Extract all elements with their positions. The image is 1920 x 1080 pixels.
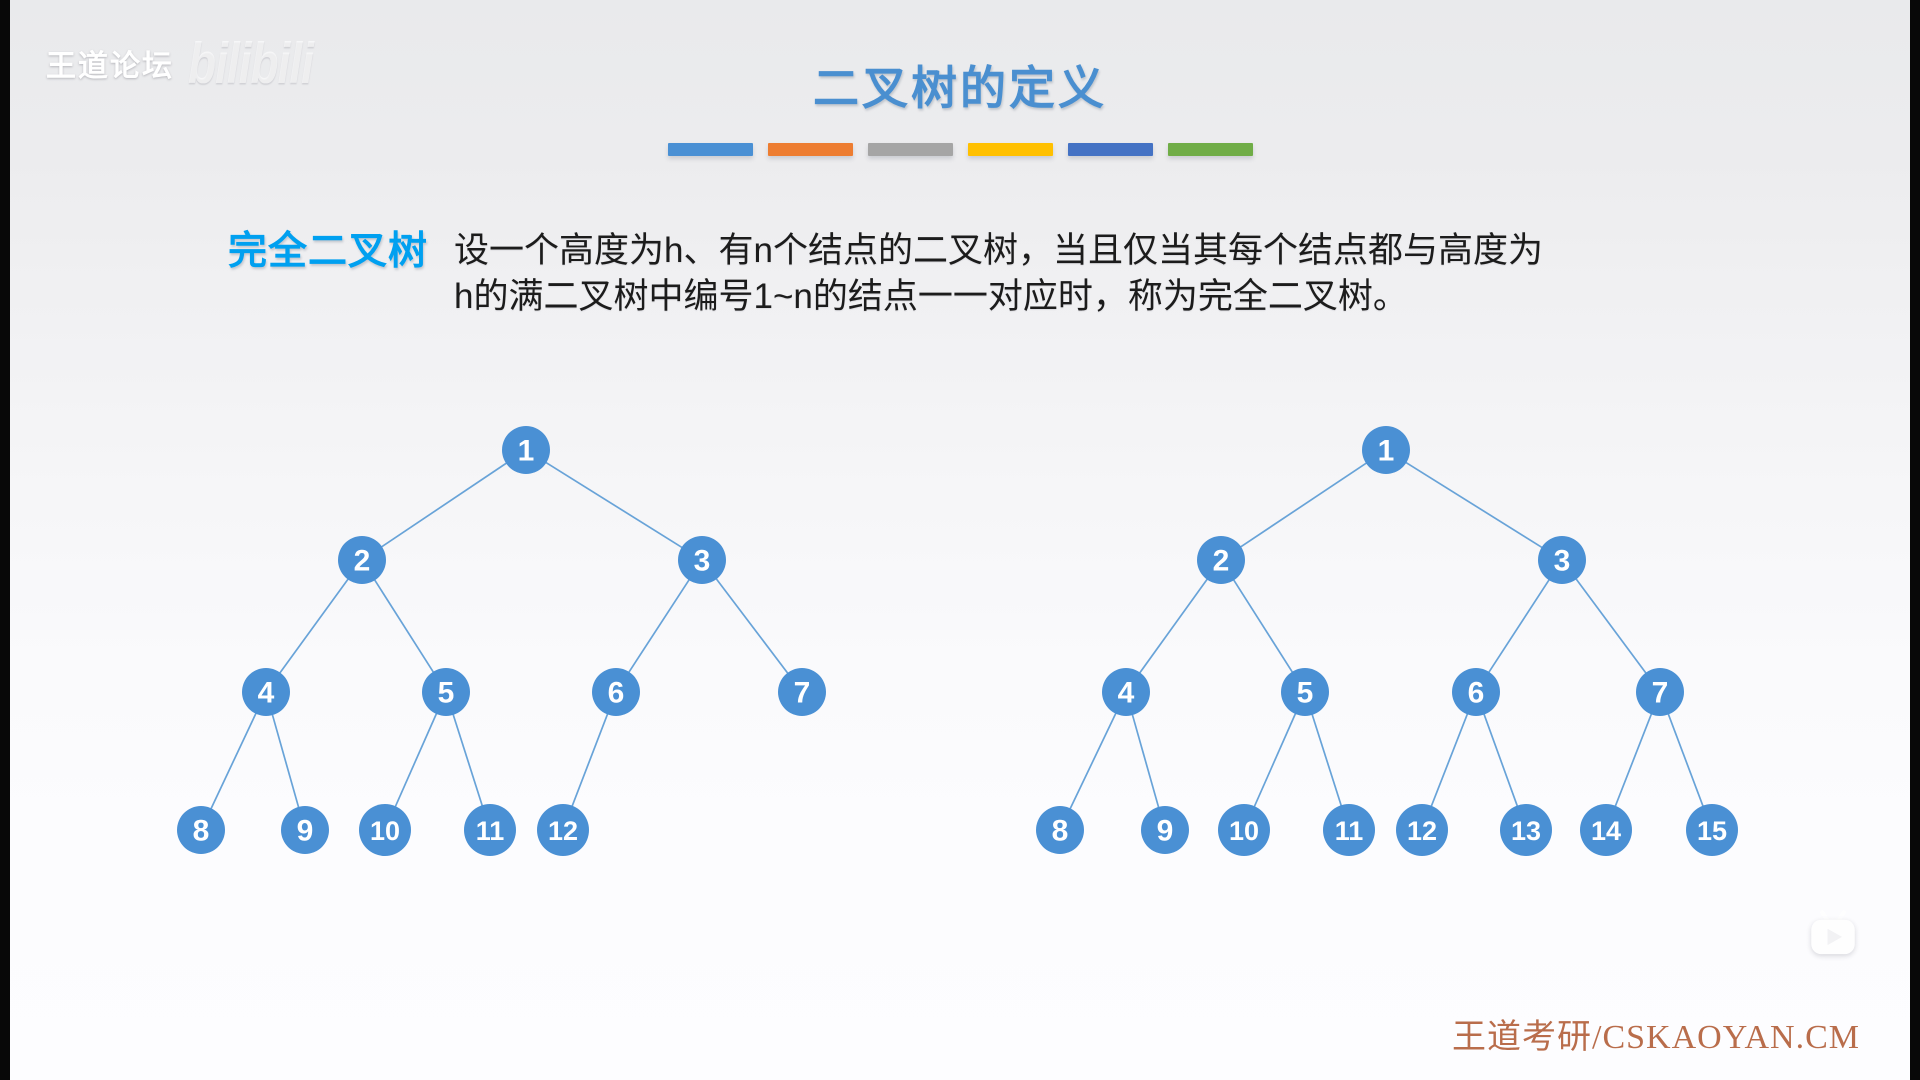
tree-edge [1132, 713, 1159, 809]
tree-node-label: 7 [794, 677, 811, 710]
title-underline-color-bars [10, 143, 1910, 156]
tree-node-label: 1 [518, 435, 535, 468]
tree-node: 7 [778, 668, 826, 716]
bar-gray [868, 143, 953, 156]
tree-node-label: 6 [1468, 677, 1485, 710]
bar-orange [768, 143, 853, 156]
tree-edge [1233, 579, 1293, 674]
full-binary-tree-diagram: 123456789101112131415 [1000, 410, 1780, 880]
tree-edge [1483, 713, 1517, 808]
tree-node-label: 2 [1213, 545, 1230, 578]
tree-edge [1488, 578, 1550, 673]
tree-node-label: 5 [438, 677, 455, 710]
tree-node-label: 7 [1652, 677, 1669, 710]
tree-node-label: 9 [297, 815, 314, 848]
tree-node-label: 8 [1052, 815, 1069, 848]
tree-edge [380, 462, 507, 547]
tree-edge [1312, 713, 1342, 807]
tree-edge [1405, 462, 1544, 549]
tree-edge [279, 578, 349, 674]
tree-node: 10 [359, 804, 411, 856]
tree-edge [1575, 578, 1647, 675]
tree-node-label: 3 [694, 545, 711, 578]
tree-node: 9 [281, 806, 329, 854]
bilibili-tv-icon [1804, 907, 1862, 965]
letterbox-left [0, 0, 10, 1080]
tree-node: 1 [1362, 426, 1410, 474]
tree-node: 13 [1500, 804, 1552, 856]
slide-root: 王道论坛 bilibili 二叉树的定义 完全二叉树 设一个高度为h、有n个结点… [0, 0, 1920, 1080]
definition-line-1: 设一个高度为h、有n个结点的二叉树，当且仅当其每个结点都与高度为 [454, 228, 1648, 274]
tree-edge [572, 713, 609, 808]
tree-node: 15 [1686, 804, 1738, 856]
tree-node-label: 8 [193, 815, 210, 848]
definition-block: 完全二叉树 设一个高度为h、有n个结点的二叉树，当且仅当其每个结点都与高度为 h… [228, 228, 1648, 320]
footer-brand: 王道考研/CSKAOYAN.CM [1452, 1009, 1860, 1058]
presentation-slide: 王道论坛 bilibili 二叉树的定义 完全二叉树 设一个高度为h、有n个结点… [10, 0, 1910, 1080]
tree-node: 1 [502, 426, 550, 474]
tree-node: 6 [592, 668, 640, 716]
tree-node-label: 3 [1554, 545, 1571, 578]
bar-yellow [968, 143, 1053, 156]
tree-node-label: 12 [1407, 816, 1437, 846]
tree-edge [374, 579, 434, 674]
bar-blue-dark [1068, 143, 1153, 156]
tree-node-label: 6 [608, 677, 625, 710]
tree-node: 4 [242, 668, 290, 716]
tree-edge [715, 578, 788, 675]
tree-node-label: 10 [1229, 816, 1259, 846]
tree-node: 7 [1636, 668, 1684, 716]
definition-term-label: 完全二叉树 [228, 228, 428, 277]
tree-node-label: 11 [476, 816, 505, 846]
tree-edge [545, 462, 684, 549]
tree-edge [1139, 578, 1208, 674]
definition-body-text: 设一个高度为h、有n个结点的二叉树，当且仅当其每个结点都与高度为 h的满二叉树中… [454, 228, 1648, 320]
tree-edge [1668, 713, 1704, 808]
tree-edge [210, 712, 256, 810]
tree-edge [272, 713, 299, 809]
tree-node-label: 1 [1378, 435, 1395, 468]
tree-node: 12 [537, 804, 589, 856]
tree-node-label: 2 [354, 545, 371, 578]
tree-node-label: 4 [258, 677, 275, 710]
tree-edge [1254, 712, 1296, 808]
bar-green [1168, 143, 1253, 156]
tree-node-label: 9 [1157, 815, 1174, 848]
tree-node: 3 [678, 536, 726, 584]
tree-node: 5 [1281, 668, 1329, 716]
tree-node: 5 [422, 668, 470, 716]
tree-node: 6 [1452, 668, 1500, 716]
tree-node: 10 [1218, 804, 1270, 856]
tree-edge [1239, 462, 1367, 548]
tree-edge [628, 578, 690, 673]
tree-node: 9 [1141, 806, 1189, 854]
tree-node: 11 [1323, 804, 1375, 856]
tree-node-label: 5 [1297, 677, 1314, 710]
tree-node-label: 15 [1697, 816, 1727, 846]
tree-node-label: 10 [370, 816, 400, 846]
tree-edge [1069, 712, 1116, 810]
tree-edge [1615, 712, 1652, 807]
letterbox-right [1910, 0, 1920, 1080]
tree-node: 8 [177, 806, 225, 854]
tree-node-label: 4 [1118, 677, 1135, 710]
tree-node: 4 [1102, 668, 1150, 716]
tree-node: 2 [1197, 536, 1245, 584]
tree-edge [453, 713, 483, 807]
tree-node: 14 [1580, 804, 1632, 856]
tree-node: 2 [338, 536, 386, 584]
tree-node-label: 13 [1511, 816, 1541, 846]
page-title: 二叉树的定义 [10, 52, 1910, 118]
tree-node: 11 [464, 804, 516, 856]
tree-edge [395, 712, 437, 808]
tree-node: 8 [1036, 806, 1084, 854]
tree-node-label: 14 [1591, 816, 1621, 846]
tree-node-label: 11 [1335, 816, 1364, 846]
bar-blue-light [668, 143, 753, 156]
tree-edge [1431, 712, 1468, 807]
tree-node: 12 [1396, 804, 1448, 856]
tree-node: 3 [1538, 536, 1586, 584]
definition-line-2: h的满二叉树中编号1~n的结点一一对应时，称为完全二叉树。 [454, 274, 1648, 320]
complete-binary-tree-diagram: 123456789101112 [160, 410, 880, 880]
tree-node-label: 12 [548, 816, 578, 846]
